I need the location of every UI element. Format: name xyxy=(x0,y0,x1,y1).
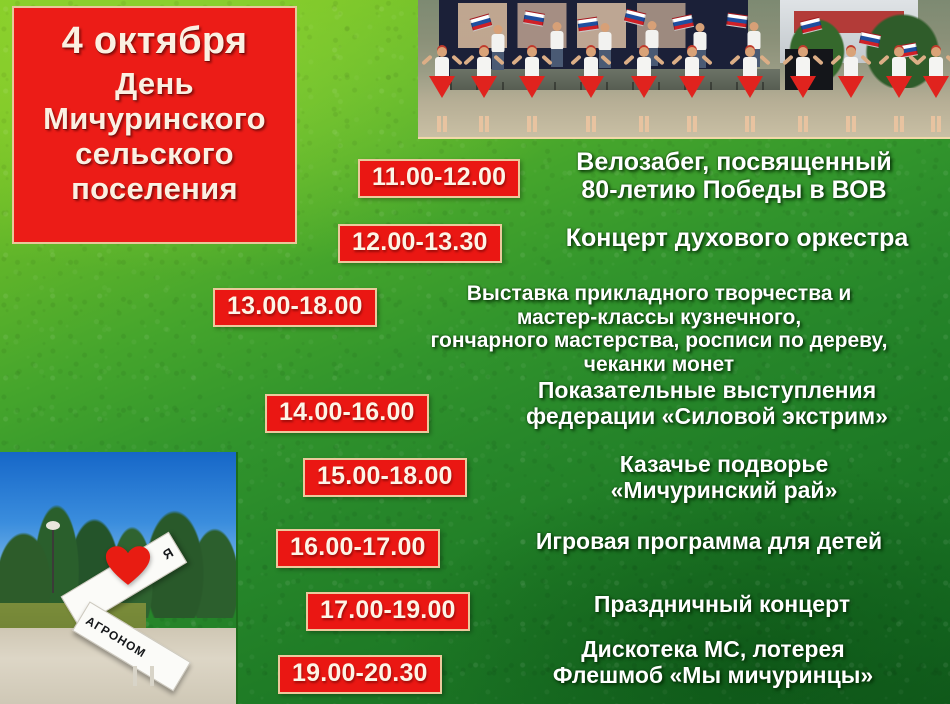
event-line: чеканки монет xyxy=(370,353,948,377)
event-line: мастер-классы кузнечного, xyxy=(370,306,948,330)
event-line: Флешмоб «Мы мичуринцы» xyxy=(478,662,948,688)
event-description: Казачье подворье «Мичуринский рай» xyxy=(500,451,948,503)
event-description: Игровая программа для детей xyxy=(470,528,948,554)
event-schedule: 11.00-12.00 Велозабег, посвященный 80-ле… xyxy=(0,0,950,704)
event-line: Дискотека МС, лотерея xyxy=(478,636,948,662)
event-line: Показательные выступления xyxy=(466,377,948,403)
event-line: Велозабег, посвященный xyxy=(524,148,944,176)
event-line: Концерт духового оркестра xyxy=(524,224,950,252)
event-line: Праздничный концерт xyxy=(500,591,944,617)
event-line: гончарного мастерства, росписи по дереву… xyxy=(370,329,948,353)
event-line: федерации «Силовой экстрим» xyxy=(466,403,948,429)
event-description: Дискотека МС, лотерея Флешмоб «Мы мичури… xyxy=(478,636,948,688)
event-description: Выставка прикладного творчества и мастер… xyxy=(370,282,948,377)
time-badge: 15.00-18.00 xyxy=(303,458,467,497)
time-badge: 19.00-20.30 xyxy=(278,655,442,694)
event-poster: 4 октября День Мичуринского сельского по… xyxy=(0,0,950,704)
time-badge: 17.00-19.00 xyxy=(306,592,470,631)
event-description: Велозабег, посвященный 80-летию Победы в… xyxy=(524,148,944,205)
event-description: Показательные выступления федерации «Сил… xyxy=(466,377,948,429)
event-description: Праздничный концерт xyxy=(500,591,944,617)
event-line: Казачье подворье xyxy=(500,451,948,477)
time-badge: 11.00-12.00 xyxy=(358,159,520,198)
event-line: Выставка прикладного творчества и xyxy=(370,282,948,306)
event-line: Игровая программа для детей xyxy=(470,528,948,554)
time-badge: 12.00-13.30 xyxy=(338,224,502,263)
event-line: «Мичуринский рай» xyxy=(500,477,948,503)
time-badge: 13.00-18.00 xyxy=(213,288,377,327)
time-badge: 16.00-17.00 xyxy=(276,529,440,568)
time-badge: 14.00-16.00 xyxy=(265,394,429,433)
event-line: 80-летию Победы в ВОВ xyxy=(524,176,944,204)
event-description: Концерт духового оркестра xyxy=(524,224,950,252)
